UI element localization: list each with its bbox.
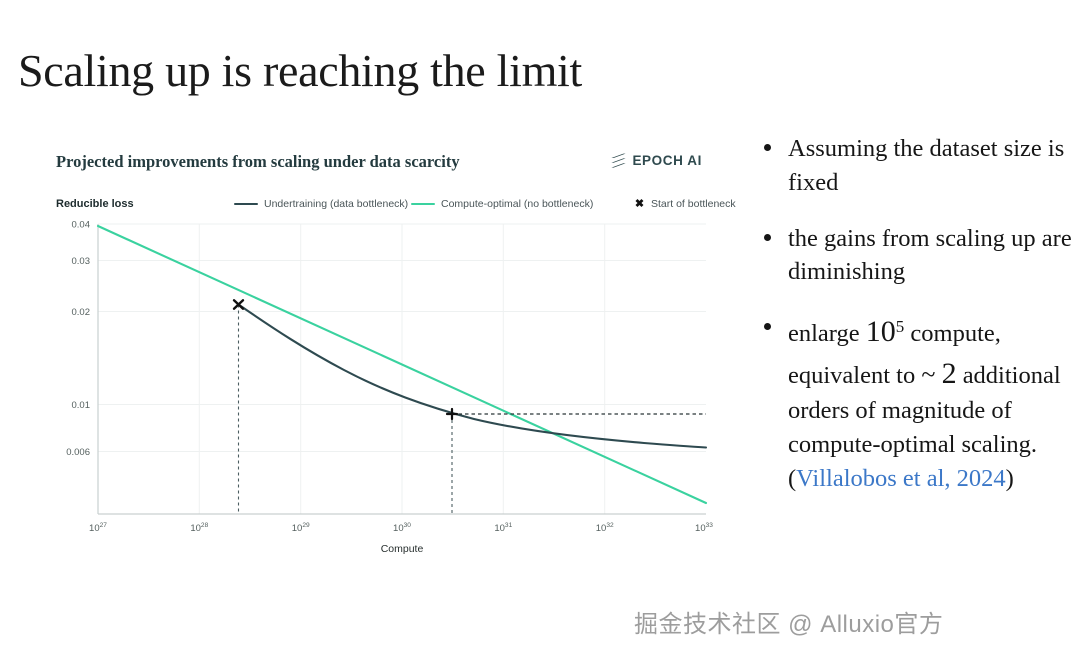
chart-card: Projected improvements from scaling unde… bbox=[44, 140, 720, 570]
epoch-ai-logo: EPOCH AI bbox=[610, 153, 702, 168]
bullet-enlarge-base: 10 bbox=[866, 315, 896, 348]
svg-text:0.04: 0.04 bbox=[72, 220, 91, 231]
plot-area: 0.04 0.03 0.02 0.01 0.006 1027 1028 1029… bbox=[44, 216, 720, 570]
bullet-list: Assuming the dataset size is fixed the g… bbox=[752, 132, 1074, 517]
legend-item-compute-optimal[interactable]: Compute-optimal (no bottleneck) bbox=[411, 198, 593, 210]
epoch-slashes-icon bbox=[610, 153, 626, 168]
svg-text:0.02: 0.02 bbox=[72, 307, 91, 318]
bullet-enlarge-exponent: 5 bbox=[896, 317, 905, 336]
list-item: enlarge 105 compute, equivalent to ~ 2 a… bbox=[752, 311, 1074, 495]
chart-legend-row: Reducible loss Undertraining (data bottl… bbox=[56, 198, 714, 214]
chart-header: Projected improvements from scaling unde… bbox=[56, 152, 712, 178]
bullet-enlarge-tilde: ~ bbox=[921, 360, 935, 389]
legend-swatch-compute-optimal bbox=[411, 203, 435, 206]
y-axis-title: Reducible loss bbox=[56, 198, 134, 210]
watermark: 掘金技术社区 @ Alluxio官方 bbox=[634, 604, 943, 639]
page-title: Scaling up is reaching the limit bbox=[18, 44, 582, 97]
citation-link-villalobos[interactable]: Villalobos et al, 2024 bbox=[796, 465, 1005, 492]
svg-text:1029: 1029 bbox=[292, 522, 310, 534]
y-tick-labels: 0.04 0.03 0.02 0.01 0.006 bbox=[66, 220, 90, 459]
legend-item-start-of-bottleneck[interactable]: ✖ Start of bottleneck bbox=[634, 198, 736, 210]
svg-text:1031: 1031 bbox=[494, 522, 512, 534]
svg-text:0.01: 0.01 bbox=[72, 400, 91, 411]
epoch-ai-label: EPOCH AI bbox=[632, 153, 702, 168]
legend-label-start-of-bottleneck: Start of bottleneck bbox=[651, 198, 736, 210]
x-axis-title: Compute bbox=[381, 543, 424, 555]
legend-label-undertraining: Undertraining (data bottleneck) bbox=[264, 198, 408, 210]
legend-swatch-undertraining bbox=[234, 203, 258, 206]
x-marker-icon: ✖ bbox=[634, 199, 645, 210]
legend-label-compute-optimal: Compute-optimal (no bottleneck) bbox=[441, 198, 593, 210]
bullet-text-dataset-fixed: Assuming the dataset size is fixed bbox=[788, 135, 1064, 196]
x-tick-labels: 1027 1028 1029 1030 1031 1032 1033 bbox=[89, 522, 713, 534]
svg-text:1028: 1028 bbox=[190, 522, 208, 534]
svg-text:1032: 1032 bbox=[596, 522, 614, 534]
legend-item-undertraining[interactable]: Undertraining (data bottleneck) bbox=[234, 198, 408, 210]
chart-title: Projected improvements from scaling unde… bbox=[56, 152, 460, 172]
bullet-enlarge-prefix: enlarge bbox=[788, 320, 866, 347]
list-item: Assuming the dataset size is fixed bbox=[752, 132, 1074, 200]
list-item: the gains from scaling up are diminishin… bbox=[752, 222, 1074, 290]
bullet-text-diminishing: the gains from scaling up are diminishin… bbox=[788, 225, 1072, 286]
bullet-enlarge-close: ) bbox=[1006, 465, 1014, 492]
svg-text:0.03: 0.03 bbox=[72, 256, 91, 267]
svg-text:1027: 1027 bbox=[89, 522, 107, 534]
svg-text:0.006: 0.006 bbox=[66, 447, 90, 458]
svg-text:1030: 1030 bbox=[393, 522, 411, 534]
bullet-enlarge-amount: 2 bbox=[942, 357, 957, 390]
chart-svg: 0.04 0.03 0.02 0.01 0.006 1027 1028 1029… bbox=[44, 216, 720, 570]
svg-text:1033: 1033 bbox=[695, 522, 713, 534]
